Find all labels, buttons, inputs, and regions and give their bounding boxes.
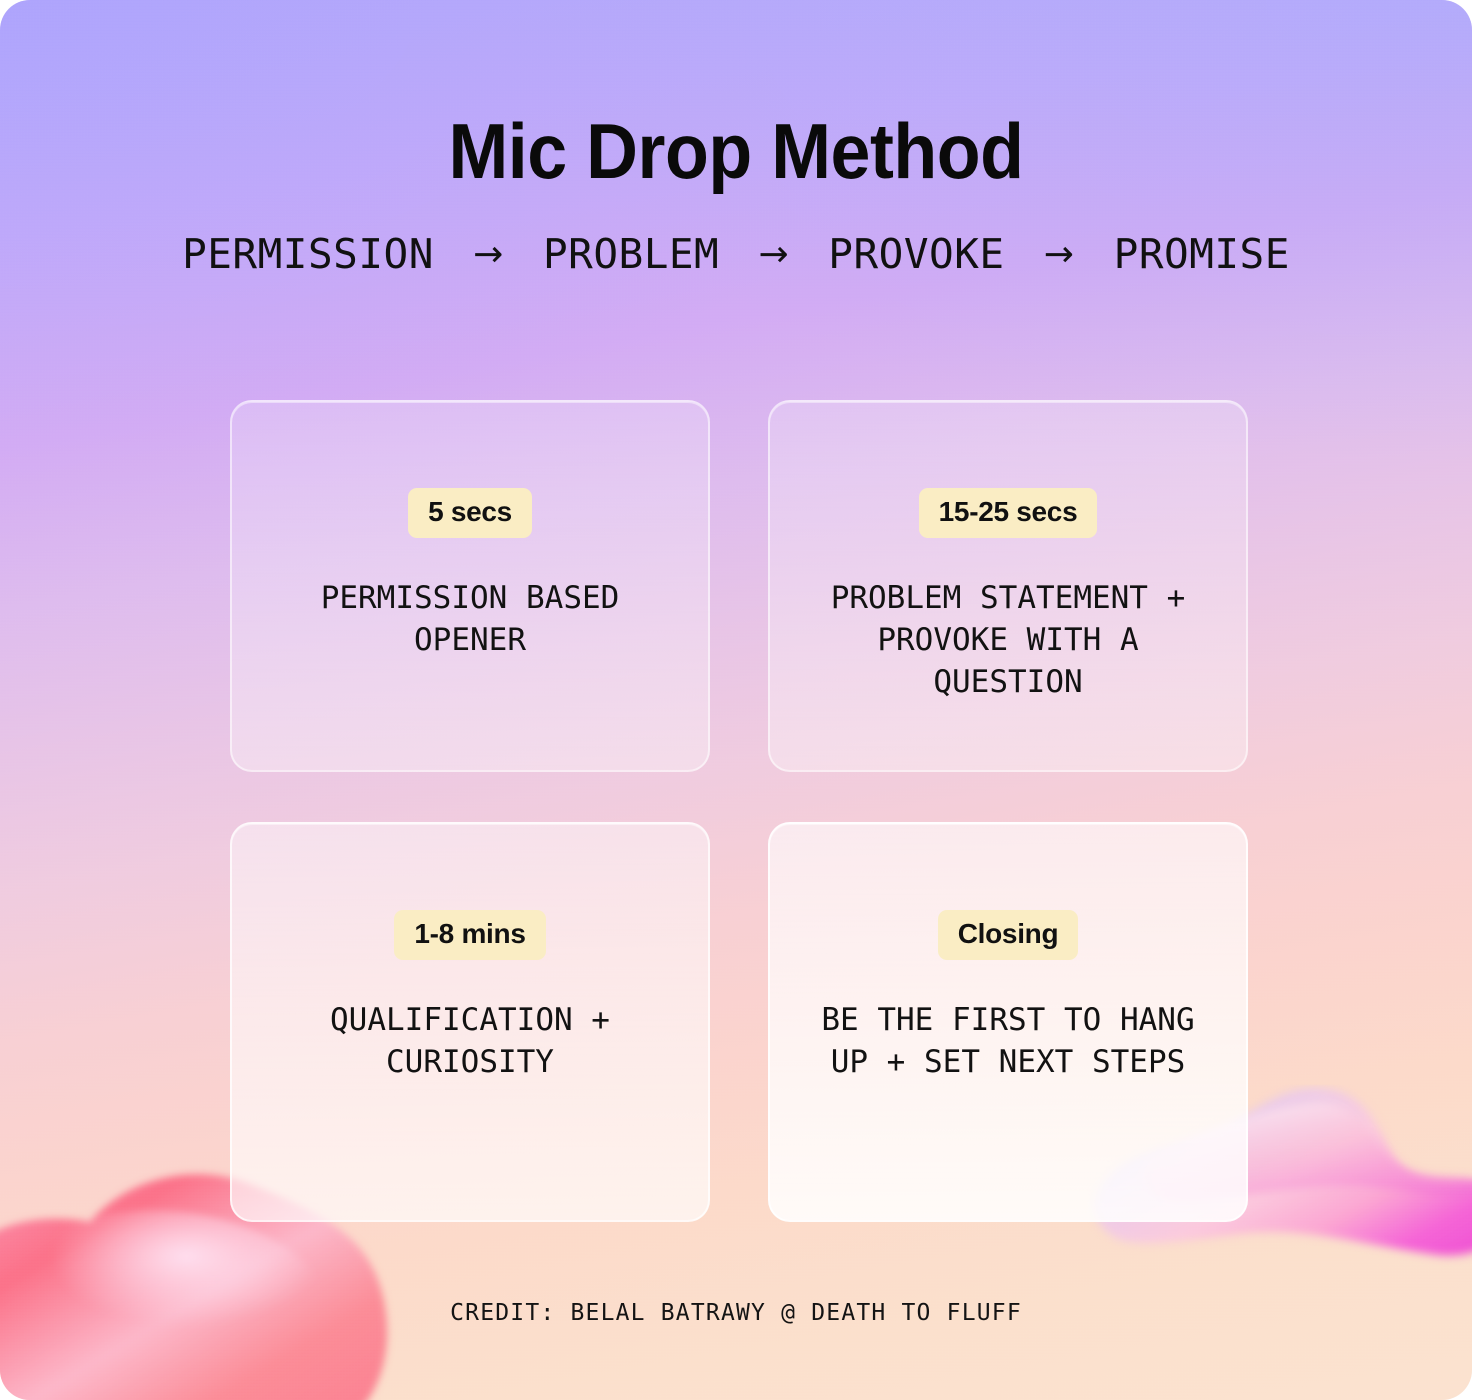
arrow-right-icon: → <box>1030 237 1089 273</box>
card-description: QUALIFICATION + CURIOSITY <box>232 1000 708 1084</box>
duration-badge: 5 secs <box>408 488 532 538</box>
flow-step-promise: PROMISE <box>1114 230 1290 278</box>
duration-badge: 1-8 mins <box>394 910 545 960</box>
method-card-problem: 15-25 secs PROBLEM STATEMENT + PROVOKE W… <box>768 400 1248 772</box>
card-description: PROBLEM STATEMENT + PROVOKE WITH A QUEST… <box>770 578 1246 704</box>
arrow-right-icon: → <box>459 237 518 273</box>
card-description: BE THE FIRST TO HANG UP + SET NEXT STEPS <box>770 1000 1246 1084</box>
flow-step-problem: PROBLEM <box>543 230 719 278</box>
flow-step-provoke: PROVOKE <box>828 230 1004 278</box>
poster-header: Mic Drop Method PERMISSION → PROBLEM → P… <box>0 0 1472 275</box>
duration-badge: 15-25 secs <box>919 488 1098 538</box>
method-card-permission: 5 secs PERMISSION BASED OPENER <box>230 400 710 772</box>
method-flow: PERMISSION → PROBLEM → PROVOKE → PROMISE <box>0 190 1472 275</box>
arrow-right-icon: → <box>744 237 803 273</box>
duration-badge: Closing <box>938 910 1079 960</box>
poster-canvas: Mic Drop Method PERMISSION → PROBLEM → P… <box>0 0 1472 1400</box>
page-title: Mic Drop Method <box>59 0 1413 190</box>
method-card-qualification: 1-8 mins QUALIFICATION + CURIOSITY <box>230 822 710 1222</box>
flow-step-permission: PERMISSION <box>182 230 434 278</box>
card-description: PERMISSION BASED OPENER <box>232 578 708 662</box>
method-card-closing: Closing BE THE FIRST TO HANG UP + SET NE… <box>768 822 1248 1222</box>
credit-line: CREDIT: BELAL BATRAWY @ DEATH TO FLUFF <box>0 1300 1472 1326</box>
method-card-grid: 5 secs PERMISSION BASED OPENER 15-25 sec… <box>230 400 1248 1222</box>
